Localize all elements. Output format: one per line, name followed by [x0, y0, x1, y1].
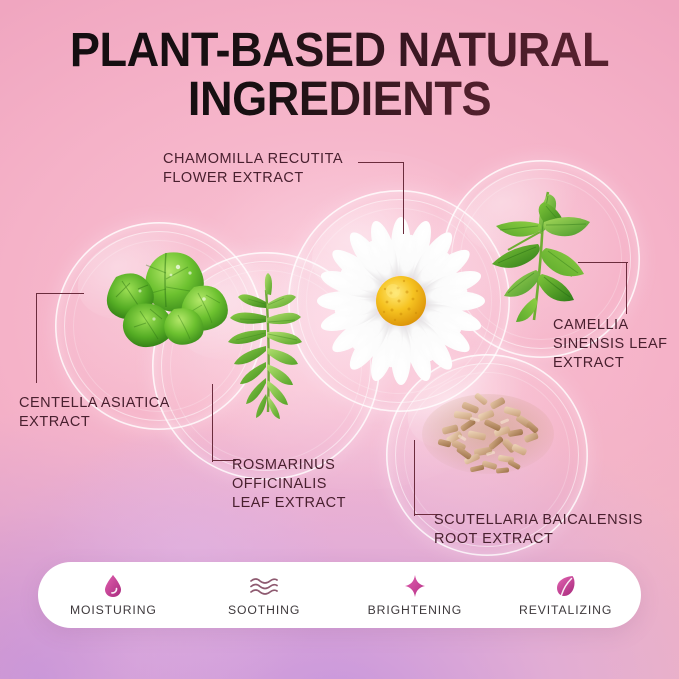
benefit-brightening[interactable]: BRIGHTENING [340, 574, 491, 617]
title-line-1: PLANT-BASED NATURAL [20, 28, 658, 74]
water-drop-icon [103, 574, 123, 598]
label-camellia-line-1: CAMELLIA [553, 316, 667, 335]
leader-line-rosmarinus [212, 384, 238, 462]
benefit-moisturing[interactable]: MOISTURING [38, 574, 189, 617]
label-rosmarinus-line-2: OFFICINALIS [232, 475, 346, 494]
daisy-flower-art [318, 218, 484, 384]
title-line-2: INGREDIENTS [20, 77, 658, 123]
benefit-revitalizing[interactable]: REVITALIZING [490, 574, 641, 617]
label-chamomilla: CHAMOMILLA RECUTITA FLOWER EXTRACT [163, 150, 343, 188]
label-centella: CENTELLA ASIATICA EXTRACT [19, 394, 170, 432]
sparkle-star-icon [403, 574, 427, 598]
benefit-soothing-label: SOOTHING [228, 603, 300, 617]
ingredients-infographic: PLANT-BASED NATURAL INGREDIENTS [0, 0, 679, 679]
leader-line-scutellaria [414, 440, 440, 516]
leader-line-centella [22, 293, 84, 383]
label-chamomilla-line-2: FLOWER EXTRACT [163, 169, 343, 188]
leaf-icon [555, 574, 577, 598]
leader-line-camellia [578, 262, 630, 314]
label-scutellaria-line-1: SCUTELLARIA BAICALENSIS [434, 511, 643, 530]
waves-icon [249, 574, 279, 598]
benefit-soothing[interactable]: SOOTHING [189, 574, 340, 617]
label-camellia-line-2: SINENSIS LEAF [553, 335, 667, 354]
benefit-revitalizing-label: REVITALIZING [519, 603, 612, 617]
label-centella-line-2: EXTRACT [19, 413, 170, 432]
leader-line-chamomilla [358, 162, 408, 234]
label-chamomilla-line-1: CHAMOMILLA RECUTITA [163, 150, 343, 169]
benefit-moisturing-label: MOISTURING [70, 603, 157, 617]
label-rosmarinus: ROSMARINUS OFFICINALIS LEAF EXTRACT [232, 456, 346, 513]
label-centella-line-1: CENTELLA ASIATICA [19, 394, 170, 413]
label-rosmarinus-line-3: LEAF EXTRACT [232, 494, 346, 513]
label-rosmarinus-line-1: ROSMARINUS [232, 456, 346, 475]
label-scutellaria: SCUTELLARIA BAICALENSIS ROOT EXTRACT [434, 511, 643, 549]
label-camellia: CAMELLIA SINENSIS LEAF EXTRACT [553, 316, 667, 373]
benefits-bar: MOISTURING SOOTHING [38, 562, 641, 628]
benefit-brightening-label: BRIGHTENING [368, 603, 463, 617]
page-title: PLANT-BASED NATURAL INGREDIENTS [20, 28, 658, 123]
label-scutellaria-line-2: ROOT EXTRACT [434, 530, 643, 549]
label-camellia-line-3: EXTRACT [553, 354, 667, 373]
